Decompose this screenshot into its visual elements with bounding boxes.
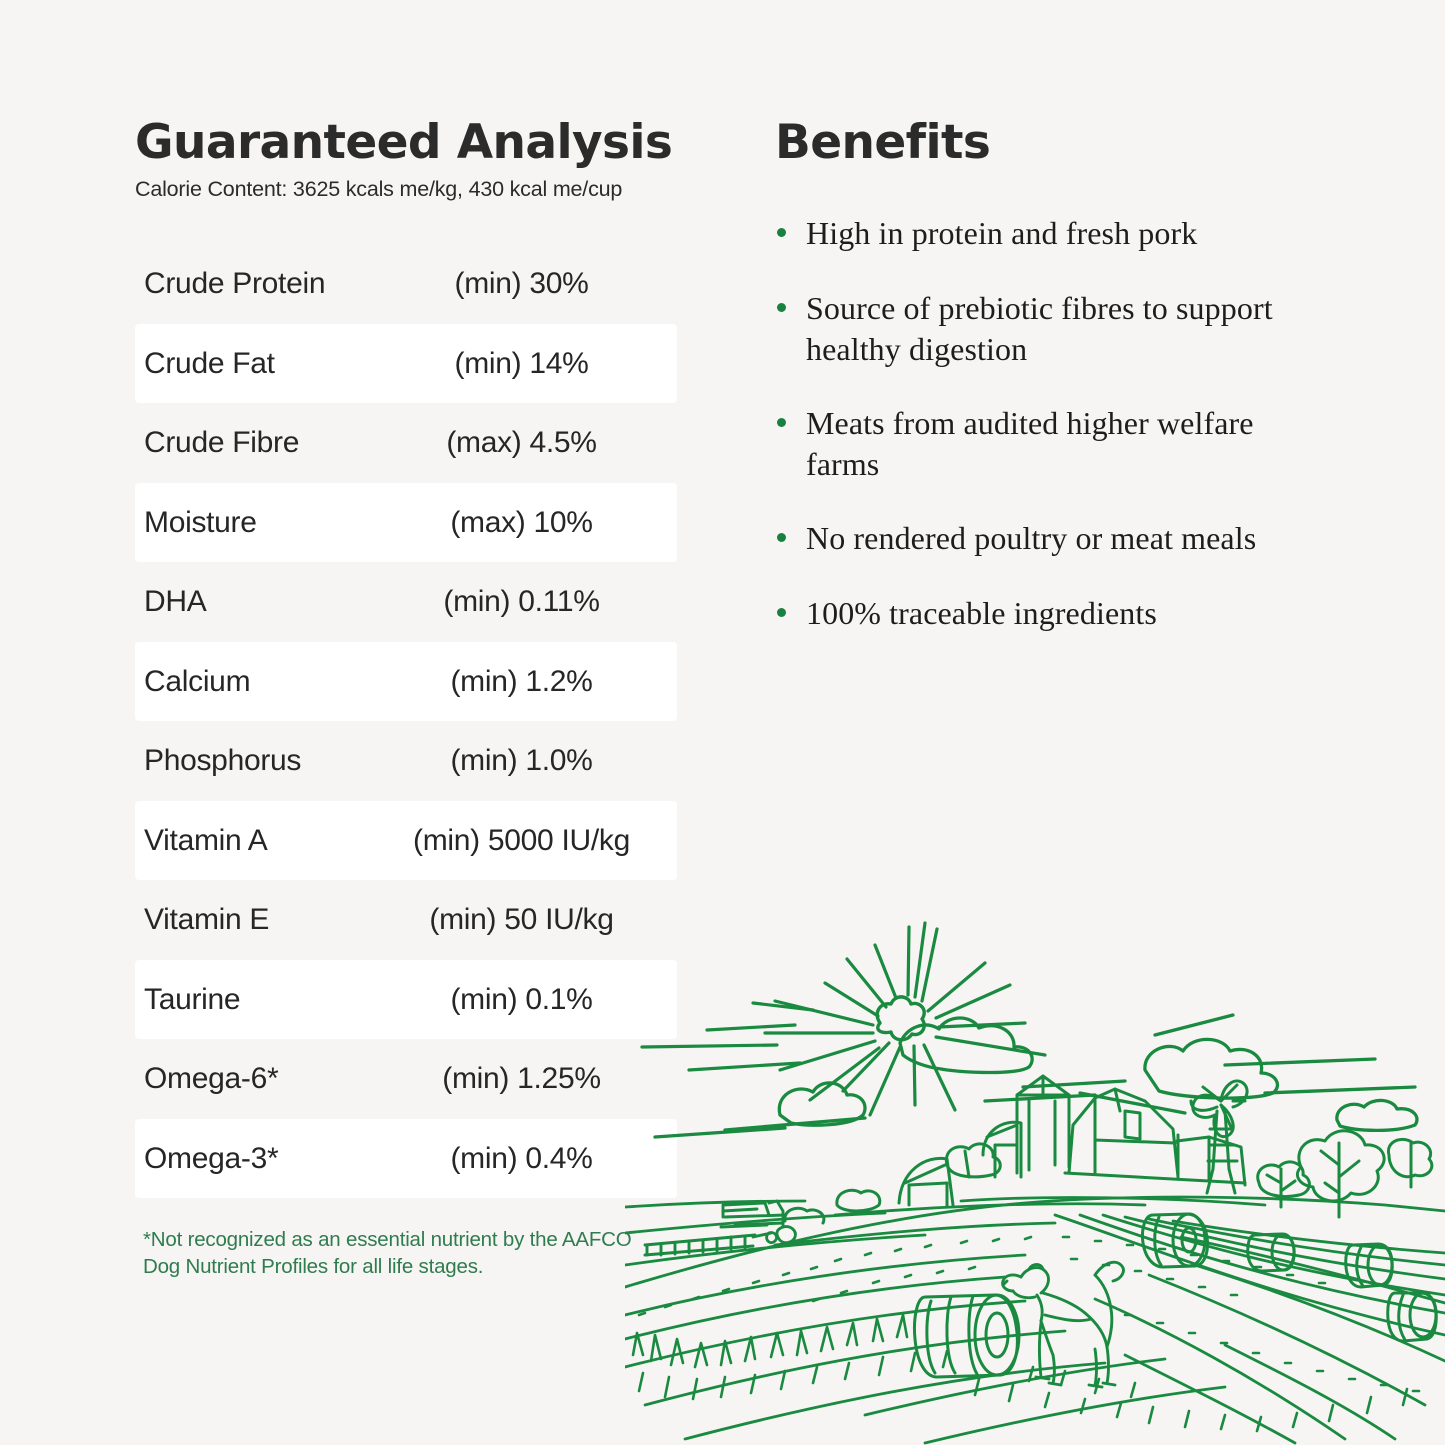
- list-item: High in protein and fresh pork: [775, 213, 1295, 254]
- table-row: Phosphorus (min) 1.0%: [135, 721, 677, 801]
- nutrient-label: Crude Fibre: [144, 426, 382, 460]
- nutrient-value: (min) 0.1%: [382, 983, 675, 1017]
- bullet-dot-icon: [777, 418, 786, 427]
- tree-icon: [785, 1131, 1432, 1223]
- field-rows: [625, 1197, 1445, 1443]
- nutrient-label: Omega-6*: [144, 1062, 382, 1096]
- nutrient-value: (max) 10%: [382, 506, 675, 540]
- nutrient-value: (min) 14%: [382, 347, 675, 381]
- quonset-hut-icon: [899, 1122, 1021, 1207]
- table-row: DHA (min) 0.11%: [135, 562, 677, 642]
- calorie-content-subtitle: Calorie Content: 3625 kcals me/kg, 430 k…: [135, 177, 695, 202]
- nutrient-value: (min) 0.11%: [382, 585, 675, 619]
- table-row: Taurine (min) 0.1%: [135, 960, 677, 1040]
- nutrient-label: Vitamin E: [144, 903, 382, 937]
- benefits-panel: Benefits High in protein and fresh pork …: [775, 118, 1295, 668]
- bullet-dot-icon: [777, 303, 786, 312]
- nutrient-value: (min) 0.4%: [382, 1142, 675, 1176]
- table-row: Vitamin E (min) 50 IU/kg: [135, 880, 677, 960]
- benefits-title: Benefits: [775, 118, 1295, 167]
- nutrient-value: (min) 1.25%: [382, 1062, 675, 1096]
- list-item: Source of prebiotic fibres to support he…: [775, 288, 1295, 369]
- list-item: No rendered poultry or meat meals: [775, 518, 1295, 559]
- nutrient-label: Vitamin A: [144, 824, 382, 858]
- hay-bale-icon: [914, 1214, 1436, 1377]
- nutrient-label: Moisture: [144, 506, 382, 540]
- nutrient-label: DHA: [144, 585, 382, 619]
- cloud-icon: [655, 1015, 1417, 1137]
- windmill-icon: [1191, 1081, 1247, 1193]
- nutrient-value: (min) 30%: [382, 267, 675, 301]
- table-row: Moisture (max) 10%: [135, 483, 677, 563]
- nutrient-value: (min) 5000 IU/kg: [382, 824, 675, 858]
- aafco-footnote: *Not recognized as an essential nutrient…: [143, 1226, 643, 1280]
- grass-texture: [633, 1237, 1419, 1431]
- table-row: Omega-3* (min) 0.4%: [135, 1119, 677, 1199]
- table-row: Omega-6* (min) 1.25%: [135, 1039, 677, 1119]
- silo-icon: [1017, 1076, 1069, 1173]
- table-row: Crude Protein (min) 30%: [135, 244, 677, 324]
- sun-icon: [877, 997, 924, 1040]
- list-item: Meats from audited higher welfare farms: [775, 403, 1295, 484]
- farm-landscape-illustration: [625, 915, 1445, 1445]
- benefit-text: No rendered poultry or meat meals: [806, 520, 1256, 556]
- bullet-dot-icon: [777, 533, 786, 542]
- guaranteed-analysis-panel: Guaranteed Analysis Calorie Content: 362…: [135, 118, 695, 1301]
- nutrient-label: Crude Fat: [144, 347, 382, 381]
- guaranteed-analysis-table: Crude Protein (min) 30% Crude Fat (min) …: [135, 244, 677, 1198]
- benefits-list: High in protein and fresh pork Source of…: [775, 213, 1295, 633]
- nutrient-value: (max) 4.5%: [382, 426, 675, 460]
- nutrient-label: Phosphorus: [144, 744, 382, 778]
- dog-icon: [1003, 1262, 1124, 1387]
- table-row: Crude Fat (min) 14%: [135, 324, 677, 404]
- benefit-text: Meats from audited higher welfare farms: [806, 405, 1254, 482]
- benefit-text: 100% traceable ingredients: [806, 595, 1157, 631]
- nutrient-label: Omega-3*: [144, 1142, 382, 1176]
- nutrient-label: Taurine: [144, 983, 382, 1017]
- nutrient-label: Calcium: [144, 665, 382, 699]
- list-item: 100% traceable ingredients: [775, 593, 1295, 634]
- table-row: Crude Fibre (max) 4.5%: [135, 403, 677, 483]
- nutrient-label: Crude Protein: [144, 267, 382, 301]
- nutrient-value: (min) 50 IU/kg: [382, 903, 675, 937]
- bullet-dot-icon: [777, 228, 786, 237]
- nutrient-value: (min) 1.2%: [382, 665, 675, 699]
- benefit-text: High in protein and fresh pork: [806, 215, 1197, 251]
- sun-rays-icon: [642, 923, 1045, 1115]
- benefit-text: Source of prebiotic fibres to support he…: [806, 290, 1273, 367]
- guaranteed-analysis-title: Guaranteed Analysis: [135, 118, 695, 167]
- table-row: Calcium (min) 1.2%: [135, 642, 677, 722]
- table-row: Vitamin A (min) 5000 IU/kg: [135, 801, 677, 881]
- bullet-dot-icon: [777, 608, 786, 617]
- barn-icon: [1065, 1089, 1245, 1185]
- nutrient-value: (min) 1.0%: [382, 744, 675, 778]
